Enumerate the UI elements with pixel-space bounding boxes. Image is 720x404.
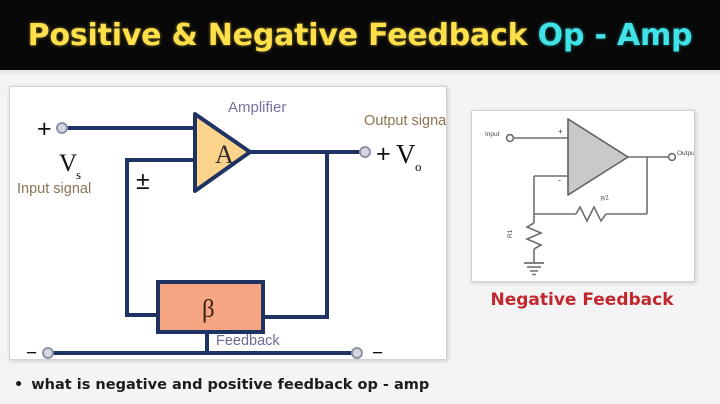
title-primary: Positive & Negative Feedback bbox=[28, 18, 528, 53]
footer-caption: •what is negative and positive feedback … bbox=[14, 377, 429, 393]
bottom-right-minus-sign: − bbox=[372, 343, 383, 359]
terminal-input-negative[interactable] bbox=[43, 348, 53, 358]
output-voltage-label: V bbox=[396, 139, 416, 169]
terminal-circuit-output[interactable] bbox=[669, 154, 676, 161]
input-voltage-subscript: s bbox=[76, 167, 81, 182]
title-secondary: Op - Amp bbox=[538, 18, 693, 53]
block-diagram-panel: A β + V s Input signal bbox=[9, 86, 447, 360]
title-bar: Positive & Negative Feedback Op - Amp bbox=[0, 0, 720, 70]
output-plus-sign: + bbox=[376, 140, 391, 168]
negative-feedback-caption: Negative Feedback bbox=[471, 290, 693, 310]
terminal-input-positive[interactable] bbox=[57, 123, 67, 133]
amplifier-gain-symbol: A bbox=[215, 140, 234, 169]
input-voltage-label: V bbox=[59, 150, 77, 177]
output-signal-label: Output signal bbox=[364, 113, 446, 129]
title-separator bbox=[0, 70, 720, 74]
resistor-r2 bbox=[576, 207, 606, 221]
resistor-r1 bbox=[527, 223, 541, 249]
bullet-icon: • bbox=[14, 377, 23, 393]
resistor-r2-label: R2 bbox=[600, 194, 610, 203]
amplifier-label: Amplifier bbox=[228, 99, 286, 116]
page-title: Positive & Negative Feedback Op - Amp bbox=[28, 18, 693, 53]
feedback-beta-symbol: β bbox=[202, 296, 215, 323]
opamp-noninverting-sign: + bbox=[558, 127, 563, 136]
input-signal-label: Input signal bbox=[17, 181, 91, 197]
opamp-circuit-panel: Input + - Output R2 R1 bbox=[471, 110, 695, 282]
summing-junction-symbol: ± bbox=[136, 167, 150, 195]
terminal-output-negative[interactable] bbox=[352, 348, 362, 358]
opamp-circuit-svg: Input + - Output R2 R1 bbox=[472, 111, 694, 281]
block-diagram-svg: A β + V s Input signal bbox=[10, 87, 446, 359]
opamp-triangle bbox=[568, 119, 628, 195]
resistor-r1-label: R1 bbox=[507, 229, 514, 238]
screenshot-root: Positive & Negative Feedback Op - Amp A bbox=[0, 0, 720, 404]
bottom-left-minus-sign: − bbox=[26, 343, 37, 359]
circuit-input-label: Input bbox=[485, 131, 500, 138]
feedback-network-label-line2: Network bbox=[216, 358, 270, 359]
input-plus-sign: + bbox=[37, 115, 52, 143]
terminal-circuit-input[interactable] bbox=[507, 135, 514, 142]
footer-caption-text: what is negative and positive feedback o… bbox=[31, 377, 429, 393]
feedback-network-label-line1: Feedback bbox=[216, 333, 280, 349]
output-voltage-subscript: o bbox=[415, 159, 422, 174]
circuit-output-label: Output bbox=[677, 150, 694, 157]
footer-bar: •what is negative and positive feedback … bbox=[0, 366, 720, 404]
terminal-output-positive[interactable] bbox=[360, 147, 370, 157]
